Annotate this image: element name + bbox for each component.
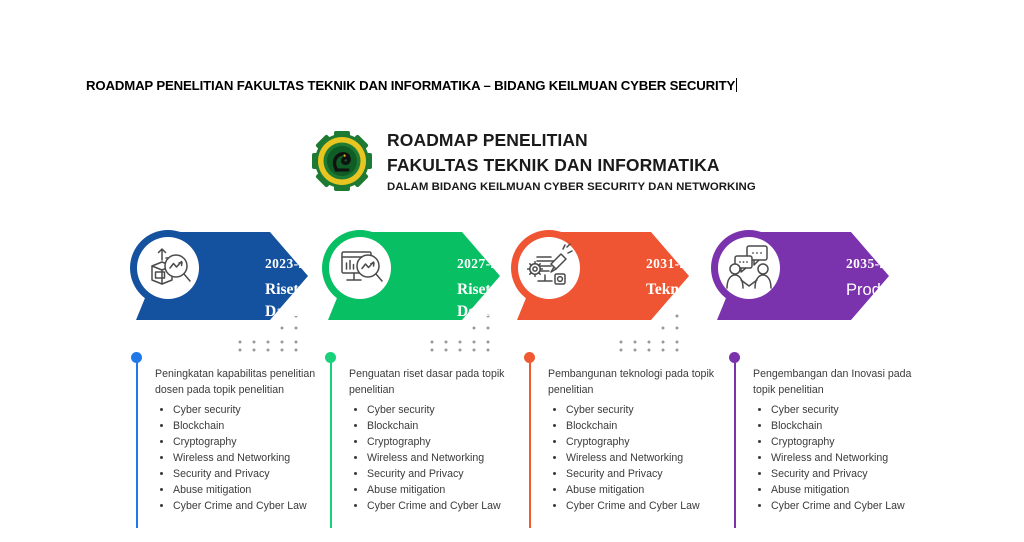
detail-heading-3: Pembangunan teknologi pada topik penelit… xyxy=(548,366,720,399)
detail-rule-2 xyxy=(330,360,332,528)
list-item: Cyber security xyxy=(771,402,925,418)
list-item: Wireless and Networking xyxy=(771,450,925,466)
list-item: Blockchain xyxy=(173,418,327,434)
list-item: Security and Privacy xyxy=(173,466,327,482)
list-item: Blockchain xyxy=(566,418,720,434)
dot-grid-icon xyxy=(620,315,679,352)
detail-heading-2: Penguatan riset dasar pada topik penelit… xyxy=(349,366,521,399)
detail-rule-4 xyxy=(734,360,736,528)
list-item: Security and Privacy xyxy=(367,466,521,482)
detail-list-1: Cyber security Blockchain Cryptography W… xyxy=(155,402,327,515)
list-item: Cyber Crime and Cyber Law xyxy=(173,498,327,514)
list-item: Cryptography xyxy=(173,434,327,450)
list-item: Cryptography xyxy=(566,434,720,450)
detail-list-4: Cyber security Blockchain Cryptography W… xyxy=(753,402,925,515)
list-item: Abuse mitigation xyxy=(566,482,720,498)
list-item: Cyber security xyxy=(367,402,521,418)
detail-rule-1 xyxy=(136,360,138,528)
stage-teknologi[interactable]: 2031-2035 Teknologi xyxy=(499,216,705,356)
list-item: Wireless and Networking xyxy=(173,450,327,466)
detail-body-3: Pembangunan teknologi pada topik penelit… xyxy=(548,366,720,514)
detail-list-2: Cyber security Blockchain Cryptography W… xyxy=(349,402,521,515)
stage-1-name: Riset Dasar xyxy=(265,279,305,323)
stage-3-ring-inner xyxy=(518,237,580,299)
detail-body-2: Penguatan riset dasar pada topik penelit… xyxy=(349,366,521,514)
list-item: Security and Privacy xyxy=(771,466,925,482)
list-item: Blockchain xyxy=(771,418,925,434)
list-item: Wireless and Networking xyxy=(367,450,521,466)
list-item: Blockchain xyxy=(367,418,521,434)
detail-list-3: Cyber security Blockchain Cryptography W… xyxy=(548,402,720,515)
detail-body-4: Pengembangan dan Inovasi pada topik pene… xyxy=(753,366,925,514)
list-item: Cyber Crime and Cyber Law xyxy=(566,498,720,514)
stage-riset-and-development[interactable]: 2027-2031 Riset and Development xyxy=(310,216,516,356)
detail-rule-3 xyxy=(529,360,531,528)
detail-body-1: Peningkatan kapabilitas penelitian dosen… xyxy=(155,366,327,514)
list-item: Cyber security xyxy=(566,402,720,418)
stage-produk[interactable]: 2035-2041 Produk xyxy=(699,216,905,356)
list-item: Abuse mitigation xyxy=(771,482,925,498)
list-item: Abuse mitigation xyxy=(173,482,327,498)
list-item: Abuse mitigation xyxy=(367,482,521,498)
stage-4-years: 2035-2041 xyxy=(846,256,908,272)
list-item: Wireless and Networking xyxy=(566,450,720,466)
stage-riset-dasar[interactable]: 2023-2027 Riset Dasar xyxy=(118,216,324,356)
detail-heading-4: Pengembangan dan Inovasi pada topik pene… xyxy=(753,366,925,399)
list-item: Security and Privacy xyxy=(566,466,720,482)
detail-heading-1: Peningkatan kapabilitas penelitian dosen… xyxy=(155,366,327,399)
list-item: Cryptography xyxy=(771,434,925,450)
list-item: Cyber Crime and Cyber Law xyxy=(367,498,521,514)
list-item: Cyber Crime and Cyber Law xyxy=(771,498,925,514)
list-item: Cryptography xyxy=(367,434,521,450)
stage-4-name: Produk xyxy=(846,279,898,302)
list-item: Cyber security xyxy=(173,402,327,418)
